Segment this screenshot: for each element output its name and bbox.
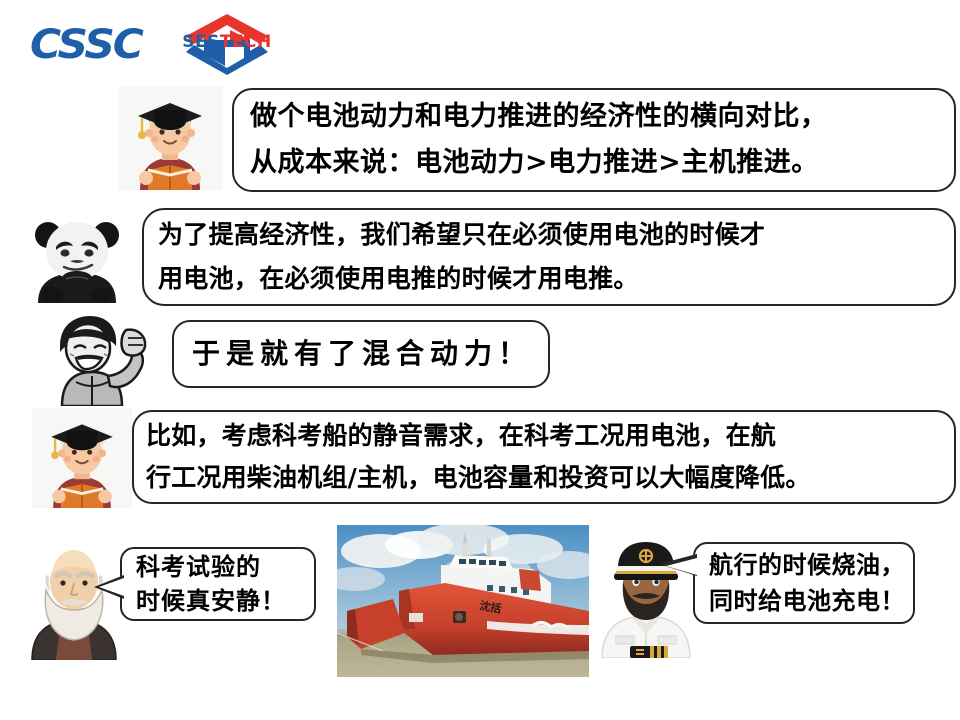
slide-canvas: CSSC SESTECH (0, 0, 960, 720)
speech-bubble-6: 航行的时候烧油， 同时给电池充电！ (693, 542, 915, 624)
muscle-man-meme-avatar (46, 312, 154, 406)
bubble-2-line-2: 用电池，在必须使用电推的时候才用电推。 (158, 257, 940, 301)
ship-captain-avatar (592, 532, 700, 658)
sestech-logo: SESTECH (172, 10, 282, 76)
speech-bubble-5: 科考试验的 时候真安静！ (120, 547, 316, 621)
research-vessel-photo: 沈括 (337, 525, 589, 677)
bubble-6-line-2: 同时给电池充电！ (709, 583, 913, 619)
bubble-5-line-1: 科考试验的 (136, 550, 314, 584)
svg-text:SESTECH: SESTECH (182, 32, 272, 52)
speech-bubble-3: 于是就有了混合动力！ (172, 320, 550, 388)
fist-icon (122, 330, 146, 356)
graduate-student-avatar (118, 86, 222, 190)
graduate-student-avatar (32, 408, 132, 508)
bubble-4-line-2: 行工况用柴油机组/主机，电池容量和投资可以大幅度降低。 (146, 457, 942, 499)
bubble-6-line-1: 航行的时候烧油， (709, 547, 913, 583)
cssc-logo: CSSC (30, 22, 142, 68)
bubble-3-line-1: 于是就有了混合动力！ (192, 324, 530, 384)
bubble-5-line-2: 时候真安静！ (136, 584, 314, 618)
bubble-2-line-1: 为了提高经济性，我们希望只在必须使用电池的时候才 (158, 213, 940, 257)
bubble-1-line-1: 做个电池动力和电力推进的经济性的横向对比， (250, 94, 938, 140)
bubble-4-line-1: 比如，考虑科考船的静音需求，在科考工况用电池，在航 (146, 415, 942, 457)
panda-meme-avatar (26, 207, 130, 303)
speech-bubble-4: 比如，考虑科考船的静音需求，在科考工况用电池，在航 行工况用柴油机组/主机，电池… (132, 410, 956, 504)
bubble-1-line-2: 从成本来说：电池动力>电力推进>主机推进。 (250, 140, 938, 186)
speech-bubble-2: 为了提高经济性，我们希望只在必须使用电池的时候才 用电池，在必须使用电推的时候才… (142, 208, 956, 306)
speech-bubble-1: 做个电池动力和电力推进的经济性的横向对比， 从成本来说：电池动力>电力推进>主机… (232, 88, 956, 192)
